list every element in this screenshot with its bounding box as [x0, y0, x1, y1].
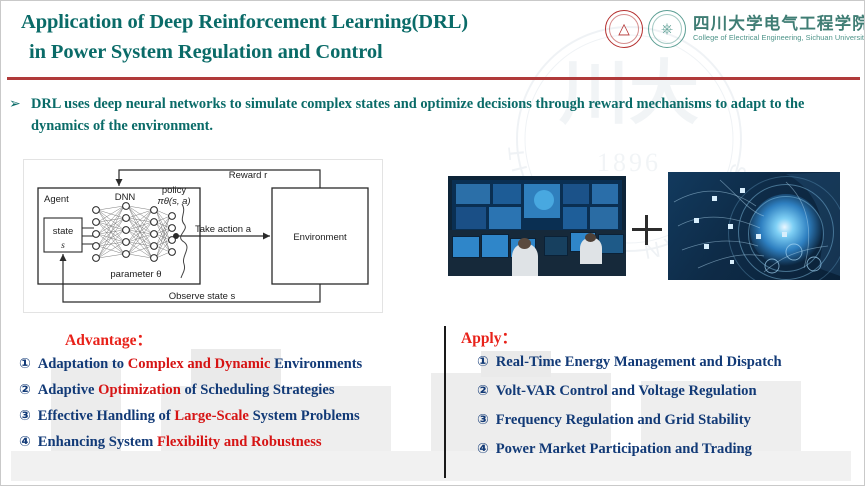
- list-item: ② Volt-VAR Control and Voltage Regulatio…: [461, 382, 856, 400]
- list-item-text: Frequency Regulation and Grid Stability: [496, 412, 751, 428]
- control-room-photo: [448, 176, 626, 276]
- list-item-number: ③: [477, 412, 494, 428]
- diagram-observe-label: Observe state s: [169, 291, 236, 302]
- title-line-2: in Power System Regulation and Control: [21, 37, 601, 67]
- apply-heading: Apply：: [461, 329, 856, 349]
- list-item-text: of Scheduling Strategies: [185, 382, 335, 398]
- title-line-1: Application of Deep Reinforcement Learni…: [21, 11, 468, 33]
- list-item-number: ②: [19, 382, 36, 398]
- logo-english-name: College of Electrical Engineering, Sichu…: [693, 33, 865, 43]
- list-item-number: ①: [19, 356, 36, 372]
- list-item: ② Adaptive Optimization of Scheduling St…: [19, 381, 439, 399]
- arrow-bullet-icon: ➢: [9, 93, 21, 115]
- diagram-policy-label: policy: [162, 185, 187, 196]
- list-item-number: ④: [19, 434, 36, 450]
- list-item-text: System Problems: [253, 408, 360, 424]
- list-item-text: Real-Time Energy Management and Dispatch: [496, 354, 782, 370]
- lead-bullet: ➢ DRL uses deep neural networks to simul…: [9, 93, 859, 137]
- list-item: ③ Effective Handling of Large-Scale Syst…: [19, 407, 439, 425]
- column-divider: [444, 326, 446, 478]
- logo-wordmark: 四川大学电气工程学院 College of Electrical Enginee…: [693, 15, 865, 43]
- list-item-highlight: Complex and Dynamic: [128, 356, 274, 372]
- list-item: ④ Enhancing System Flexibility and Robus…: [19, 433, 439, 451]
- list-item: ① Real-Time Energy Management and Dispat…: [461, 353, 856, 371]
- list-item-highlight: Large-Scale: [174, 408, 252, 424]
- college-seal-icon: ⎈: [648, 10, 686, 48]
- list-item: ③ Frequency Regulation and Grid Stabilit…: [461, 411, 856, 429]
- list-item-highlight: Flexibility and Robustness: [157, 434, 322, 450]
- diagram-dnn-label: DNN: [115, 192, 136, 203]
- diagram-environment-label: Environment: [293, 232, 347, 243]
- slide-title: Application of Deep Reinforcement Learni…: [21, 7, 601, 67]
- list-item-number: ②: [477, 383, 494, 399]
- lead-text: DRL uses deep neural networks to simulat…: [9, 93, 859, 137]
- seal-red-glyph: △: [606, 21, 642, 36]
- diagram-state-label: state: [53, 226, 74, 237]
- brain-network-lines: [668, 172, 840, 280]
- sichuan-university-seal-icon: △: [605, 10, 643, 48]
- list-item-highlight: Optimization: [98, 382, 184, 398]
- advantage-column: Advantage： ① Adaptation to Complex and D…: [19, 331, 439, 459]
- list-item-text: Volt-VAR Control and Voltage Regulation: [496, 383, 757, 399]
- advantage-heading: Advantage：: [19, 331, 439, 351]
- list-item-number: ③: [19, 408, 36, 424]
- list-item-number: ④: [477, 441, 494, 457]
- seal-teal-glyph: ⎈: [649, 21, 685, 36]
- header-divider: [7, 77, 860, 80]
- diagram-policy-symbol: πθ(s, a): [157, 196, 190, 207]
- advantage-list: ① Adaptation to Complex and Dynamic Envi…: [19, 355, 439, 451]
- list-item: ① Adaptation to Complex and Dynamic Envi…: [19, 355, 439, 373]
- diagram-agent-label: Agent: [44, 194, 69, 205]
- plus-symbol-icon: [632, 215, 662, 245]
- seal-year: 1896: [597, 148, 661, 177]
- diagram-reward-label: Reward r: [229, 170, 268, 181]
- list-item-number: ①: [477, 354, 494, 370]
- list-item-text: Adaptation to: [38, 356, 128, 372]
- diagram-parameter-label: parameter θ: [110, 269, 161, 280]
- rl-loop-diagram: Agent state s DNN policy πθ(s, a) parame…: [23, 159, 383, 313]
- diagram-state-symbol: s: [61, 241, 65, 251]
- institution-logos: △ ⎈ 四川大学电气工程学院 College of Electrical Eng…: [605, 6, 861, 51]
- apply-column: Apply： ① Real-Time Energy Management and…: [461, 329, 856, 469]
- list-item-text: Adaptive: [38, 382, 98, 398]
- apply-list: ① Real-Time Energy Management and Dispat…: [461, 353, 856, 458]
- list-item: ④ Power Market Participation and Trading: [461, 440, 856, 458]
- list-item-text: Effective Handling of: [38, 408, 175, 424]
- list-item-text: Environments: [274, 356, 362, 372]
- list-item-text: Power Market Participation and Trading: [496, 441, 752, 457]
- list-item-text: Enhancing System: [38, 434, 157, 450]
- ai-brain-photo: [668, 172, 840, 280]
- slide-canvas: SICHUAN UNIVERSITY 川大 1896 Application o…: [0, 0, 865, 486]
- logo-chinese-name: 四川大学电气工程学院: [693, 15, 865, 33]
- rl-diagram-graphics: Agent state s DNN policy πθ(s, a) parame…: [24, 160, 382, 312]
- diagram-action-label: Take action a: [195, 224, 252, 235]
